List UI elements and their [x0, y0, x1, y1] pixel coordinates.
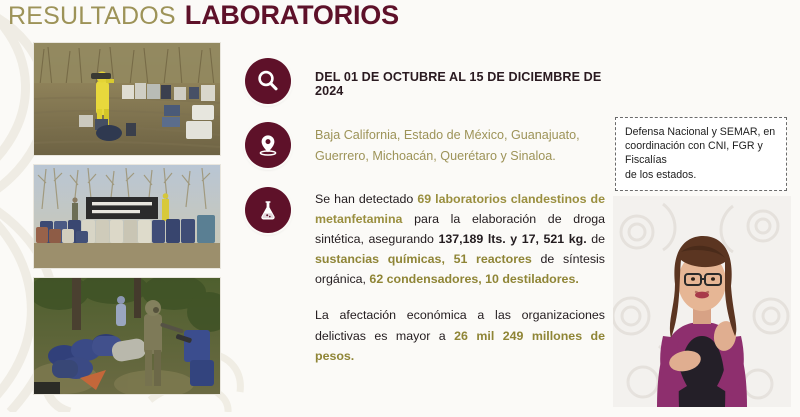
photo-ejercito-mexicano-barrels — [33, 164, 221, 269]
info-row-date: DEL 01 DE OCTUBRE AL 15 DE DICIEMBRE DE … — [245, 58, 605, 104]
detail-p1-h4: sustancias químicas, 51 reactores — [315, 252, 532, 266]
detail-paragraph-2: La afectación económica a las organizaci… — [315, 305, 605, 365]
detail-p1-s4: de — [587, 232, 605, 246]
detail-paragraph-1: Se han detectado 69 laboratorios clandes… — [315, 189, 605, 289]
callout-line-2: coordinación con CNI, FGR y Fiscalías — [625, 139, 778, 167]
detail-p1-s3: y — [506, 232, 522, 246]
detail-p1-h3: 17, 521 kg. — [522, 232, 587, 246]
page-title-strong: LABORATORIOS — [185, 0, 399, 31]
states-list-line-2: Guerrero, Michoacán, Querétaro y Sinaloa… — [315, 146, 605, 166]
sign-language-interpreter-video — [613, 196, 791, 407]
photo-lab-site-hazmat — [33, 42, 221, 156]
callout-line-3: de los estados. — [625, 168, 778, 182]
info-row-detail: Se han detectado 69 laboratorios clandes… — [245, 187, 605, 366]
photo-forest-barrels-gasmask — [33, 277, 221, 395]
page-title: RESULTADOS LABORATORIOS — [8, 0, 399, 31]
callout-line-1: Defensa Nacional y SEMAR, en — [625, 125, 778, 139]
states-list-line-1: Baja California, Estado de México, Guana… — [315, 125, 605, 145]
page-title-kicker: RESULTADOS — [8, 2, 176, 31]
agencies-callout: Defensa Nacional y SEMAR, en coordinació… — [615, 117, 787, 191]
location-pin-icon — [245, 122, 291, 168]
info-column: DEL 01 DE OCTUBRE AL 15 DE DICIEMBRE DE … — [245, 55, 605, 366]
detail-p1-h2: 137,189 lts. — [438, 232, 505, 246]
flask-icon — [245, 187, 291, 233]
detail-p1-h5: 62 condensadores, 10 destiladores. — [369, 272, 578, 286]
detail-p1-s1: Se han detectado — [315, 192, 417, 206]
magnifier-icon — [245, 58, 291, 104]
date-range-text: DEL 01 DE OCTUBRE AL 15 DE DICIEMBRE DE … — [315, 70, 605, 98]
info-row-states: Baja California, Estado de México, Guana… — [245, 122, 605, 168]
photo-gallery — [33, 42, 219, 395]
